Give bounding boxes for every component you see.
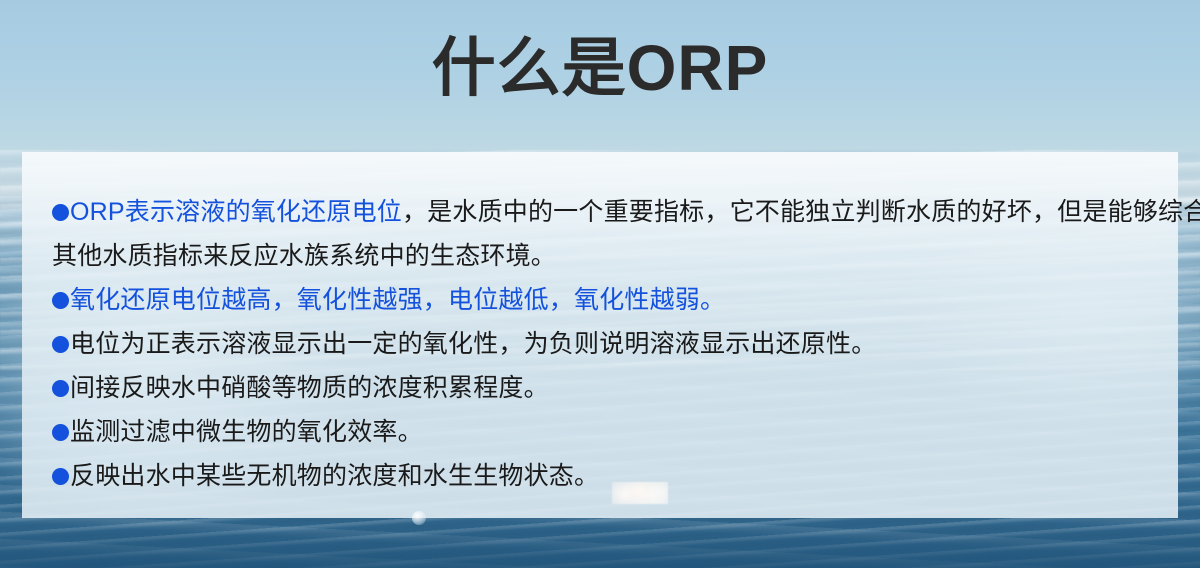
water-droplet-icon: [412, 511, 426, 525]
deep-water-strip: [0, 524, 1200, 568]
bullet-dot-icon: [52, 292, 69, 309]
orp-infographic-poster: 什么是ORP ORP表示溶液的氧化还原电位，是水质中的一个重要指标，它不能独立判…: [0, 0, 1200, 568]
list-item-dark-text: ，是水质中的一个重要指标，它不能独立判断水质的好坏，但是能够综合: [402, 198, 1200, 226]
list-item: 电位为正表示溶液显示出一定的氧化性，为负则说明溶液显示出还原性。: [52, 322, 1160, 366]
list-item-dark-text: 监测过滤中微生物的氧化效率。: [70, 418, 423, 446]
list-item: 氧化还原电位越高，氧化性越强，电位越低，氧化性越弱。: [52, 278, 1160, 322]
list-item-continuation: 其他水质指标来反应水族系统中的生态环境。: [52, 234, 1160, 278]
bullet-dot-icon: [52, 424, 69, 441]
list-item: 监测过滤中微生物的氧化效率。: [52, 410, 1160, 454]
bullet-dot-icon: [52, 204, 69, 221]
list-item: ORP表示溶液的氧化还原电位，是水质中的一个重要指标，它不能独立判断水质的好坏，…: [52, 190, 1160, 234]
list-item-dark-text: 间接反映水中硝酸等物质的浓度积累程度。: [70, 374, 549, 402]
list-item-blue-text: ORP表示溶液的氧化还原电位: [70, 198, 402, 226]
list-item-dark-text: 电位为正表示溶液显示出一定的氧化性，为负则说明溶液显示出还原性。: [70, 330, 876, 358]
orp-bullet-list: ORP表示溶液的氧化还原电位，是水质中的一个重要指标，它不能独立判断水质的好坏，…: [52, 190, 1160, 498]
bullet-dot-icon: [52, 468, 69, 485]
list-item: 间接反映水中硝酸等物质的浓度积累程度。: [52, 366, 1160, 410]
list-item: 反映出水中某些无机物的浓度和水生生物状态。: [52, 454, 1160, 498]
bullet-dot-icon: [52, 380, 69, 397]
list-item-blue-text: 氧化还原电位越高，氧化性越强，电位越低，氧化性越弱。: [70, 286, 725, 314]
bullet-dot-icon: [52, 336, 69, 353]
list-item-dark-text: 反映出水中某些无机物的浓度和水生生物状态。: [70, 462, 599, 490]
page-title: 什么是ORP: [0, 30, 1200, 106]
